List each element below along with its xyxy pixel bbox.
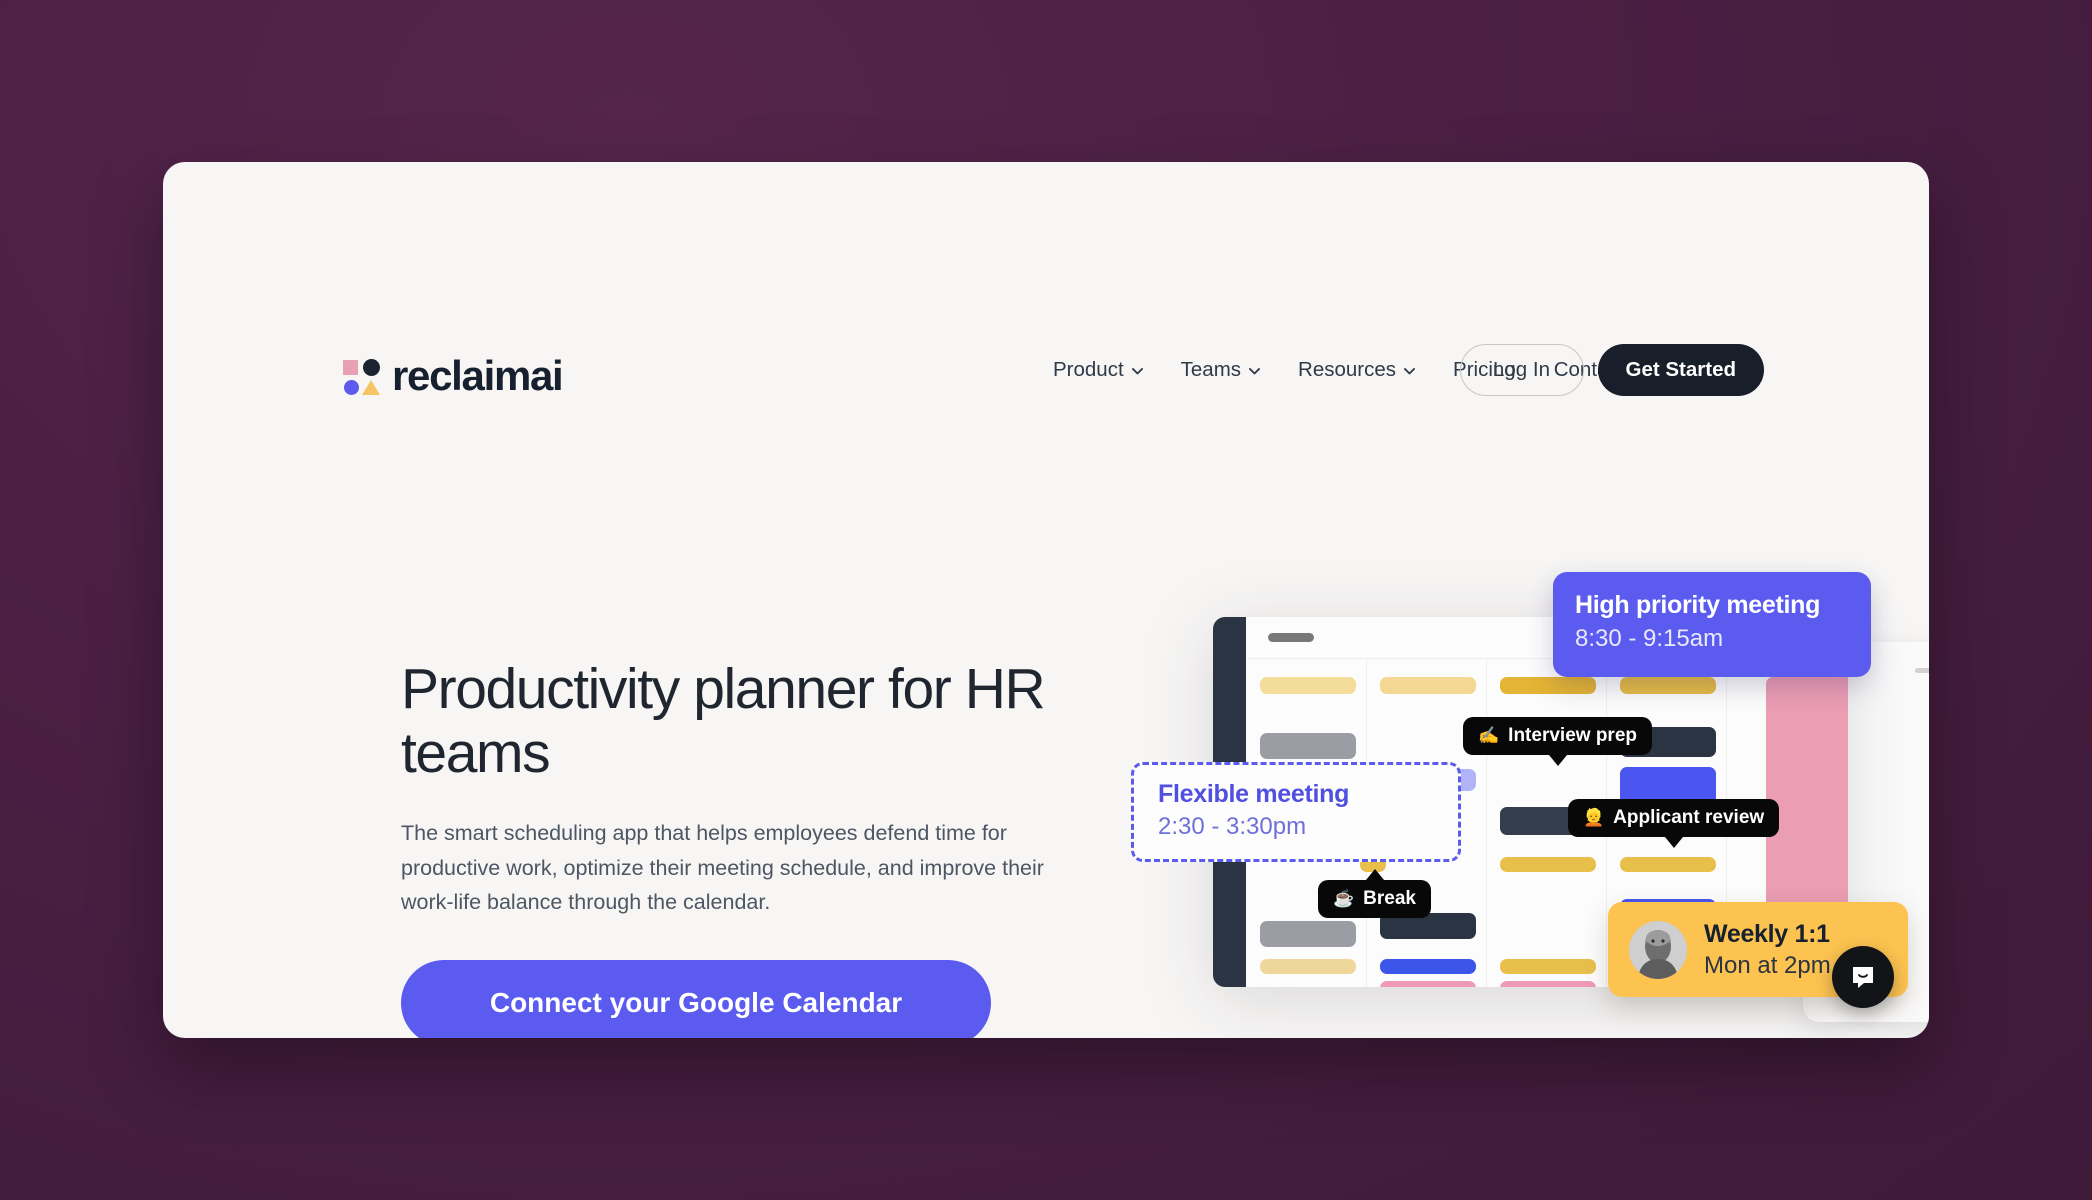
nav-label: Resources <box>1298 358 1396 382</box>
site-header <box>163 162 1929 280</box>
window-controls <box>1915 662 1929 679</box>
get-started-button[interactable]: Get Started <box>1598 344 1765 396</box>
chip-label: Break <box>1363 888 1416 910</box>
event-block <box>1500 981 1596 987</box>
nav-item-product[interactable]: Product <box>1053 358 1143 382</box>
person-icon: 👱 <box>1583 808 1604 828</box>
chip-applicant-review: 👱 Applicant review <box>1568 799 1779 837</box>
nav-item-teams[interactable]: Teams <box>1181 358 1260 382</box>
avatar <box>1629 921 1687 979</box>
calendar-title-placeholder <box>1268 633 1314 642</box>
event-block <box>1260 733 1356 759</box>
flexible-meeting-card: Flexible meeting 2:30 - 3:30pm <box>1131 762 1461 862</box>
weekly-text-group: Weekly 1:1 Mon at 2pm <box>1704 920 1831 980</box>
brand-logo[interactable]: reclaimai <box>343 355 562 397</box>
event-block <box>1380 959 1476 974</box>
event-block <box>1260 677 1356 694</box>
event-block <box>1500 959 1596 974</box>
chip-interview-prep: ✍️ Interview prep <box>1463 717 1652 755</box>
coffee-icon: ☕ <box>1333 889 1354 909</box>
event-block <box>1620 677 1716 694</box>
event-time: 8:30 - 9:15am <box>1575 625 1871 653</box>
chip-break: ☕ Break <box>1318 880 1431 918</box>
event-block <box>1260 921 1356 947</box>
nav-label: Product <box>1053 358 1124 382</box>
event-block <box>1500 677 1596 694</box>
header-actions: Log In Get Started <box>1460 344 1765 396</box>
chip-label: Interview prep <box>1508 725 1637 747</box>
nav-label: Teams <box>1181 358 1241 382</box>
logo-mark-icon <box>343 358 379 394</box>
page-card: reclaimai Product Teams Resources Pricin… <box>163 162 1929 1038</box>
chevron-down-icon <box>1249 368 1260 375</box>
chip-label: Applicant review <box>1613 807 1764 829</box>
event-time: Mon at 2pm <box>1704 952 1831 980</box>
hero-subtitle: The smart scheduling app that helps empl… <box>401 816 1101 920</box>
event-time: 2:30 - 3:30pm <box>1158 813 1458 841</box>
page-title: Productivity planner for HR teams <box>401 657 1141 786</box>
login-button[interactable]: Log In <box>1460 344 1584 396</box>
brand-name: reclaimai <box>392 355 562 397</box>
chevron-down-icon <box>1404 368 1415 375</box>
event-title: High priority meeting <box>1575 591 1871 620</box>
event-block <box>1380 677 1476 694</box>
hero-section: Productivity planner for HR teams The sm… <box>401 657 1141 1038</box>
event-block <box>1380 981 1476 987</box>
chevron-down-icon <box>1132 368 1143 375</box>
minimize-icon <box>1915 668 1929 673</box>
chat-bubble-icon[interactable] <box>1832 946 1894 1008</box>
connect-google-calendar-button[interactable]: Connect your Google Calendar <box>401 960 991 1038</box>
event-title: Weekly 1:1 <box>1704 920 1831 949</box>
hero-illustration: High priority meeting 8:30 - 9:15am Flex… <box>1213 582 1929 1038</box>
event-title: Flexible meeting <box>1158 780 1458 809</box>
event-block <box>1260 959 1356 974</box>
event-block <box>1620 857 1716 872</box>
high-priority-meeting-card: High priority meeting 8:30 - 9:15am <box>1553 572 1871 677</box>
event-block <box>1500 857 1596 872</box>
writing-hand-icon: ✍️ <box>1478 726 1499 746</box>
nav-item-resources[interactable]: Resources <box>1298 358 1415 382</box>
